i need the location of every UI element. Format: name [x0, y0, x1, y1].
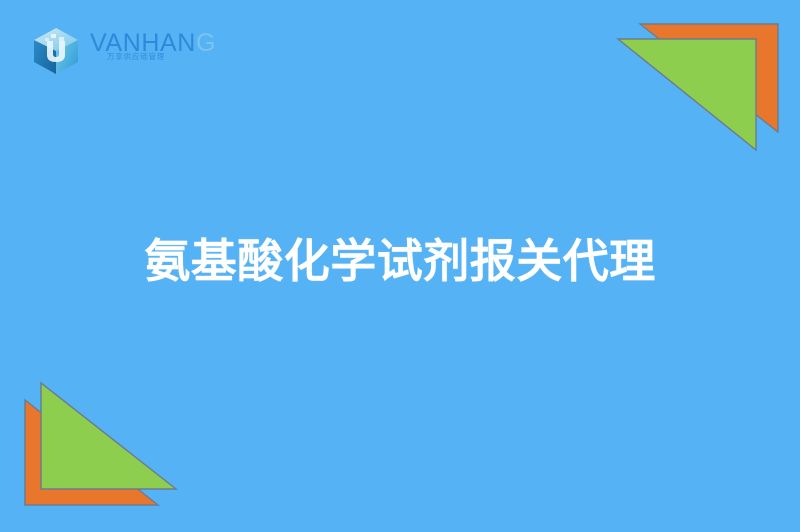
slide-canvas: VANHANG 万享供应链管理 氨基酸化学试剂报关代理 [0, 0, 800, 532]
logo-text-group: VANHANG 万享供应链管理 [90, 27, 202, 73]
company-logo: VANHANG 万享供应链管理 [30, 24, 205, 76]
logo-wordmark-accent: G [196, 29, 216, 57]
slide-title: 氨基酸化学试剂报关代理 [0, 234, 800, 288]
vanhang-cube-logo-icon [30, 24, 82, 76]
logo-subtext: 万享供应链管理 [107, 53, 165, 61]
